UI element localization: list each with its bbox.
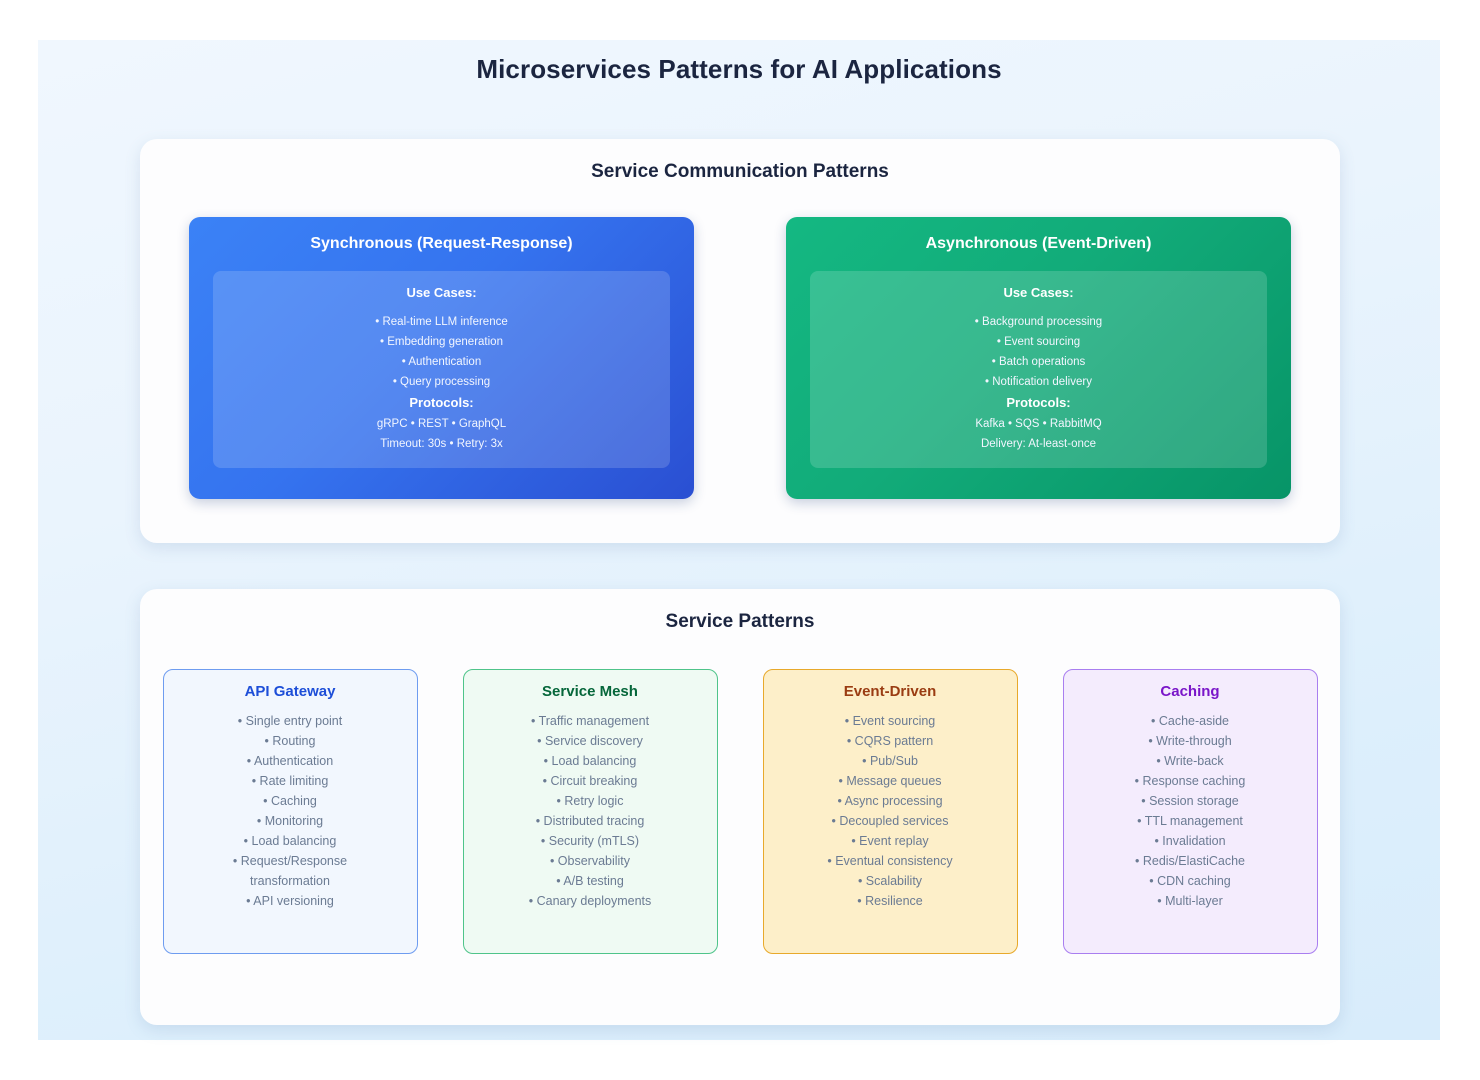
list-item: • Traffic management <box>472 711 709 731</box>
card-api-gateway-title: API Gateway <box>172 683 409 700</box>
list-item: • Load balancing <box>472 751 709 771</box>
list-item: • Observability <box>472 851 709 871</box>
detail-line: Timeout: 30s • Retry: 3x <box>223 434 660 454</box>
list-item: • Cache-aside <box>1072 711 1309 731</box>
list-item: • Response caching <box>1072 771 1309 791</box>
list-item: • Pub/Sub <box>772 751 1009 771</box>
list-item: • Security (mTLS) <box>472 831 709 851</box>
list-item: • Caching <box>172 791 409 811</box>
list-item: • Scalability <box>772 871 1009 891</box>
list-item: • Single entry point <box>172 711 409 731</box>
list-item: • Write-through <box>1072 731 1309 751</box>
list-item: • Write-back <box>1072 751 1309 771</box>
card-caching[interactable]: Caching • Cache-aside • Write-through • … <box>1063 669 1318 954</box>
detail-line: • Query processing <box>223 372 660 392</box>
list-item: • Event replay <box>772 831 1009 851</box>
list-item: • Canary deployments <box>472 891 709 911</box>
card-synchronous[interactable]: Synchronous (Request-Response) Use Cases… <box>189 217 694 499</box>
list-item: • Resilience <box>772 891 1009 911</box>
list-item: • Request/Response <box>172 851 409 871</box>
list-item: • A/B testing <box>472 871 709 891</box>
card-asynchronous-title: Asynchronous (Event-Driven) <box>810 235 1267 253</box>
detail-line: • Authentication <box>223 352 660 372</box>
protocols-heading: Protocols: <box>223 392 660 414</box>
section-service-communication-patterns: Service Communication Patterns Synchrono… <box>140 139 1340 543</box>
list-item: • Circuit breaking <box>472 771 709 791</box>
list-item: • Session storage <box>1072 791 1309 811</box>
detail-line: Kafka • SQS • RabbitMQ <box>820 414 1257 434</box>
use-cases-heading: Use Cases: <box>820 285 1257 300</box>
pattern-cards-row: API Gateway • Single entry point • Routi… <box>140 669 1340 954</box>
list-item: transformation <box>172 871 409 891</box>
section-title-patterns: Service Patterns <box>140 589 1340 633</box>
list-item: • Event sourcing <box>772 711 1009 731</box>
card-service-mesh-title: Service Mesh <box>472 683 709 700</box>
list-item: • TTL management <box>1072 811 1309 831</box>
diagram-canvas: Microservices Patterns for AI Applicatio… <box>38 40 1440 1040</box>
card-api-gateway[interactable]: API Gateway • Single entry point • Routi… <box>163 669 418 954</box>
card-service-mesh[interactable]: Service Mesh • Traffic management • Serv… <box>463 669 718 954</box>
list-item: • Message queues <box>772 771 1009 791</box>
list-item: • CQRS pattern <box>772 731 1009 751</box>
list-item: • Invalidation <box>1072 831 1309 851</box>
page-title: Microservices Patterns for AI Applicatio… <box>38 40 1440 85</box>
detail-line: • Batch operations <box>820 352 1257 372</box>
card-event-driven-title: Event-Driven <box>772 683 1009 700</box>
use-cases-heading: Use Cases: <box>223 285 660 300</box>
card-asynchronous[interactable]: Asynchronous (Event-Driven) Use Cases: •… <box>786 217 1291 499</box>
list-item: • CDN caching <box>1072 871 1309 891</box>
card-synchronous-title: Synchronous (Request-Response) <box>213 235 670 253</box>
detail-line: • Background processing <box>820 312 1257 332</box>
list-item: • Load balancing <box>172 831 409 851</box>
list-item: • Multi-layer <box>1072 891 1309 911</box>
detail-line: • Real-time LLM inference <box>223 312 660 332</box>
list-item: • API versioning <box>172 891 409 911</box>
list-item: • Distributed tracing <box>472 811 709 831</box>
list-item: • Routing <box>172 731 409 751</box>
list-item: • Monitoring <box>172 811 409 831</box>
list-item: • Authentication <box>172 751 409 771</box>
communication-cards-row: Synchronous (Request-Response) Use Cases… <box>140 217 1340 499</box>
card-caching-title: Caching <box>1072 683 1309 700</box>
list-item: • Redis/ElastiCache <box>1072 851 1309 871</box>
card-asynchronous-details: Use Cases: • Background processing • Eve… <box>810 271 1267 468</box>
detail-line: gRPC • REST • GraphQL <box>223 414 660 434</box>
section-title-communication: Service Communication Patterns <box>140 139 1340 183</box>
list-item: • Async processing <box>772 791 1009 811</box>
card-synchronous-details: Use Cases: • Real-time LLM inference • E… <box>213 271 670 468</box>
card-event-driven[interactable]: Event-Driven • Event sourcing • CQRS pat… <box>763 669 1018 954</box>
list-item: • Eventual consistency <box>772 851 1009 871</box>
protocols-heading: Protocols: <box>820 392 1257 414</box>
detail-line: Delivery: At-least-once <box>820 434 1257 454</box>
detail-line: • Notification delivery <box>820 372 1257 392</box>
list-item: • Service discovery <box>472 731 709 751</box>
list-item: • Retry logic <box>472 791 709 811</box>
list-item: • Decoupled services <box>772 811 1009 831</box>
list-item: • Rate limiting <box>172 771 409 791</box>
detail-line: • Event sourcing <box>820 332 1257 352</box>
detail-line: • Embedding generation <box>223 332 660 352</box>
section-service-patterns: Service Patterns API Gateway • Single en… <box>140 589 1340 1025</box>
